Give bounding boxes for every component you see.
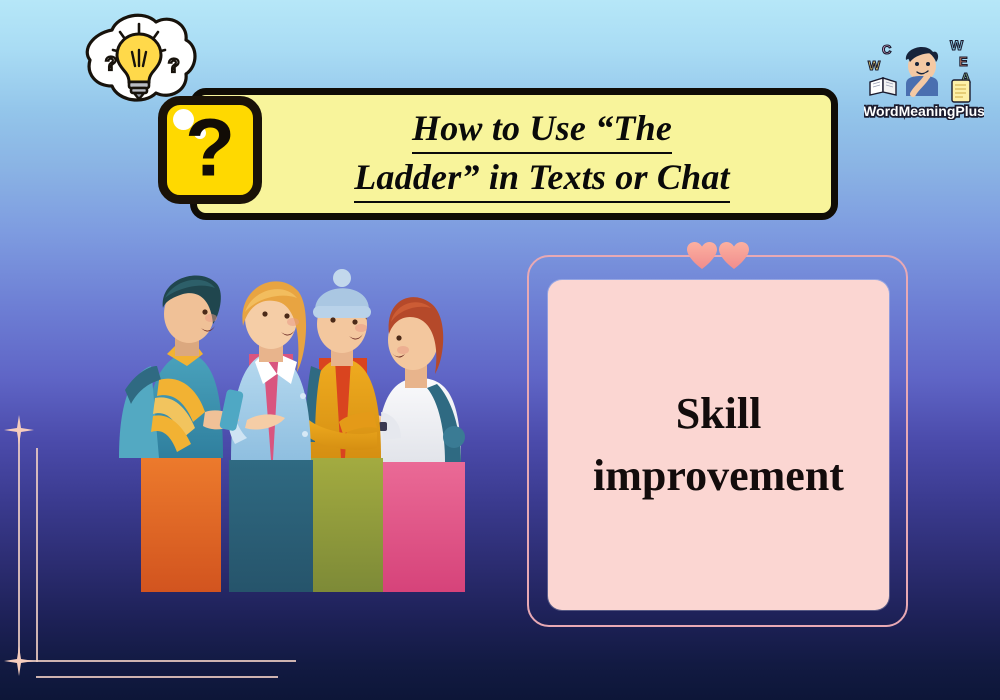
title-line-1-text: How to Use “The bbox=[412, 105, 672, 154]
question-mark-badge: ? bbox=[158, 96, 262, 204]
title-line-2: Ladder” in Texts or Chat bbox=[253, 154, 831, 203]
hearts-decoration bbox=[680, 243, 756, 273]
person-3-beanie-mustard-coat bbox=[301, 269, 383, 592]
poster-canvas: ? ? ? How to Use “The Ladder” in Texts o… bbox=[0, 0, 1000, 700]
frame-inner-horizontal-line bbox=[36, 676, 278, 678]
brand-logo-wordmeaningplus: C W W E A bbox=[864, 28, 984, 120]
title-text-block: How to Use “The Ladder” in Texts or Chat bbox=[197, 105, 831, 203]
svg-text:?: ? bbox=[105, 54, 117, 75]
person-1-backpack-striped-jacket bbox=[119, 276, 244, 592]
svg-text:W: W bbox=[868, 58, 881, 73]
four-people-talking-illustration bbox=[105, 262, 485, 592]
skill-panel-line-1: Skill bbox=[572, 383, 865, 445]
frame-inner-vertical-line bbox=[36, 448, 38, 662]
heart-icon-right bbox=[719, 242, 749, 275]
frame-outer-horizontal-line bbox=[18, 660, 296, 662]
svg-text:C: C bbox=[882, 42, 892, 57]
svg-text:?: ? bbox=[168, 56, 180, 77]
svg-text:E: E bbox=[959, 54, 968, 69]
skill-panel-card: Skill improvement bbox=[548, 280, 889, 610]
person-2-blonde-denim-jacket bbox=[228, 281, 313, 592]
brand-wordmark: WordMeaningPlus bbox=[864, 103, 984, 119]
skill-panel-text: Skill improvement bbox=[572, 383, 865, 508]
title-line-1: How to Use “The bbox=[253, 105, 831, 154]
heart-icon-left bbox=[687, 242, 717, 275]
sparkle-icon-top bbox=[4, 415, 34, 445]
question-mark-glyph: ? bbox=[167, 107, 253, 189]
svg-text:W: W bbox=[950, 37, 964, 53]
title-line-2-text: Ladder” in Texts or Chat bbox=[354, 154, 730, 203]
frame-outer-vertical-line bbox=[18, 430, 20, 662]
sparkle-icon-bottom bbox=[4, 646, 34, 676]
title-banner: How to Use “The Ladder” in Texts or Chat bbox=[190, 88, 838, 220]
skill-panel-line-2: improvement bbox=[572, 445, 865, 507]
